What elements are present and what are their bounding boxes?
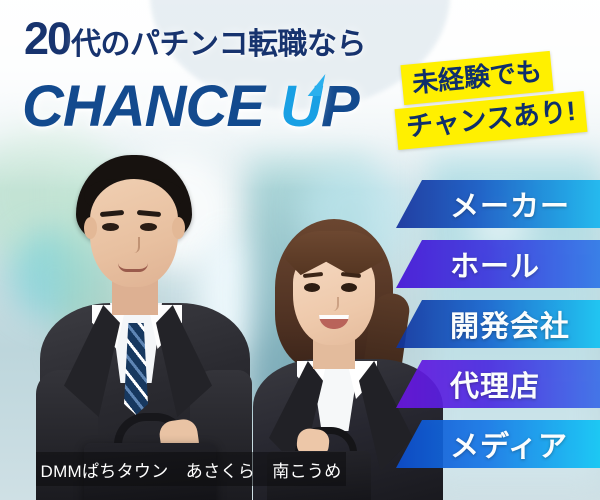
female-eye-left: [304, 283, 320, 292]
logo-up-letter-p: P: [321, 74, 359, 139]
person-male: [40, 155, 250, 500]
male-eye-right: [140, 223, 157, 231]
male-necktie: [124, 323, 148, 415]
category-label-hall: ホール: [450, 243, 540, 285]
headline-number: 20: [24, 16, 70, 61]
headline: 20代のパチンコ転職なら: [24, 16, 444, 61]
male-ear-left: [84, 217, 97, 239]
caption-strip: DMMぱちタウン あさくら 南こうめ: [36, 452, 346, 486]
ad-banner[interactable]: 20代のパチンコ転職なら CHANCE UP 未経験でも チャンスあり! メーカ…: [0, 0, 600, 500]
male-eye-left: [102, 223, 119, 231]
category-bar-agency[interactable]: 代理店: [396, 360, 600, 408]
badge-no-experience: 未経験でも チャンスあり!: [396, 56, 596, 156]
category-bar-developer[interactable]: 開発会社: [396, 300, 600, 348]
female-nose: [329, 297, 339, 311]
male-nose: [128, 237, 140, 253]
category-bar-media[interactable]: メディア: [396, 420, 600, 468]
category-bar-list: メーカー ホール 開発会社 代理店 メディア: [396, 176, 600, 476]
category-label-agency: 代理店: [450, 363, 540, 405]
caption-text: DMMぱちタウン あさくら 南こうめ: [41, 457, 342, 482]
category-label-media: メディア: [450, 423, 568, 465]
male-ear-right: [172, 217, 185, 239]
category-bar-maker[interactable]: メーカー: [396, 180, 600, 228]
male-mouth: [118, 263, 148, 272]
category-label-maker: メーカー: [450, 183, 570, 225]
category-bar-hall[interactable]: ホール: [396, 240, 600, 288]
headline-line-1: 20代のパチンコ転職なら: [24, 16, 444, 61]
headline-line-1-text: 代のパチンコ転職なら: [71, 30, 366, 60]
logo-chance-up: CHANCE UP: [22, 72, 422, 142]
logo-chance-text: CHANCE: [22, 78, 264, 136]
female-eye-right: [341, 283, 357, 292]
category-label-developer: 開発会社: [450, 303, 570, 345]
